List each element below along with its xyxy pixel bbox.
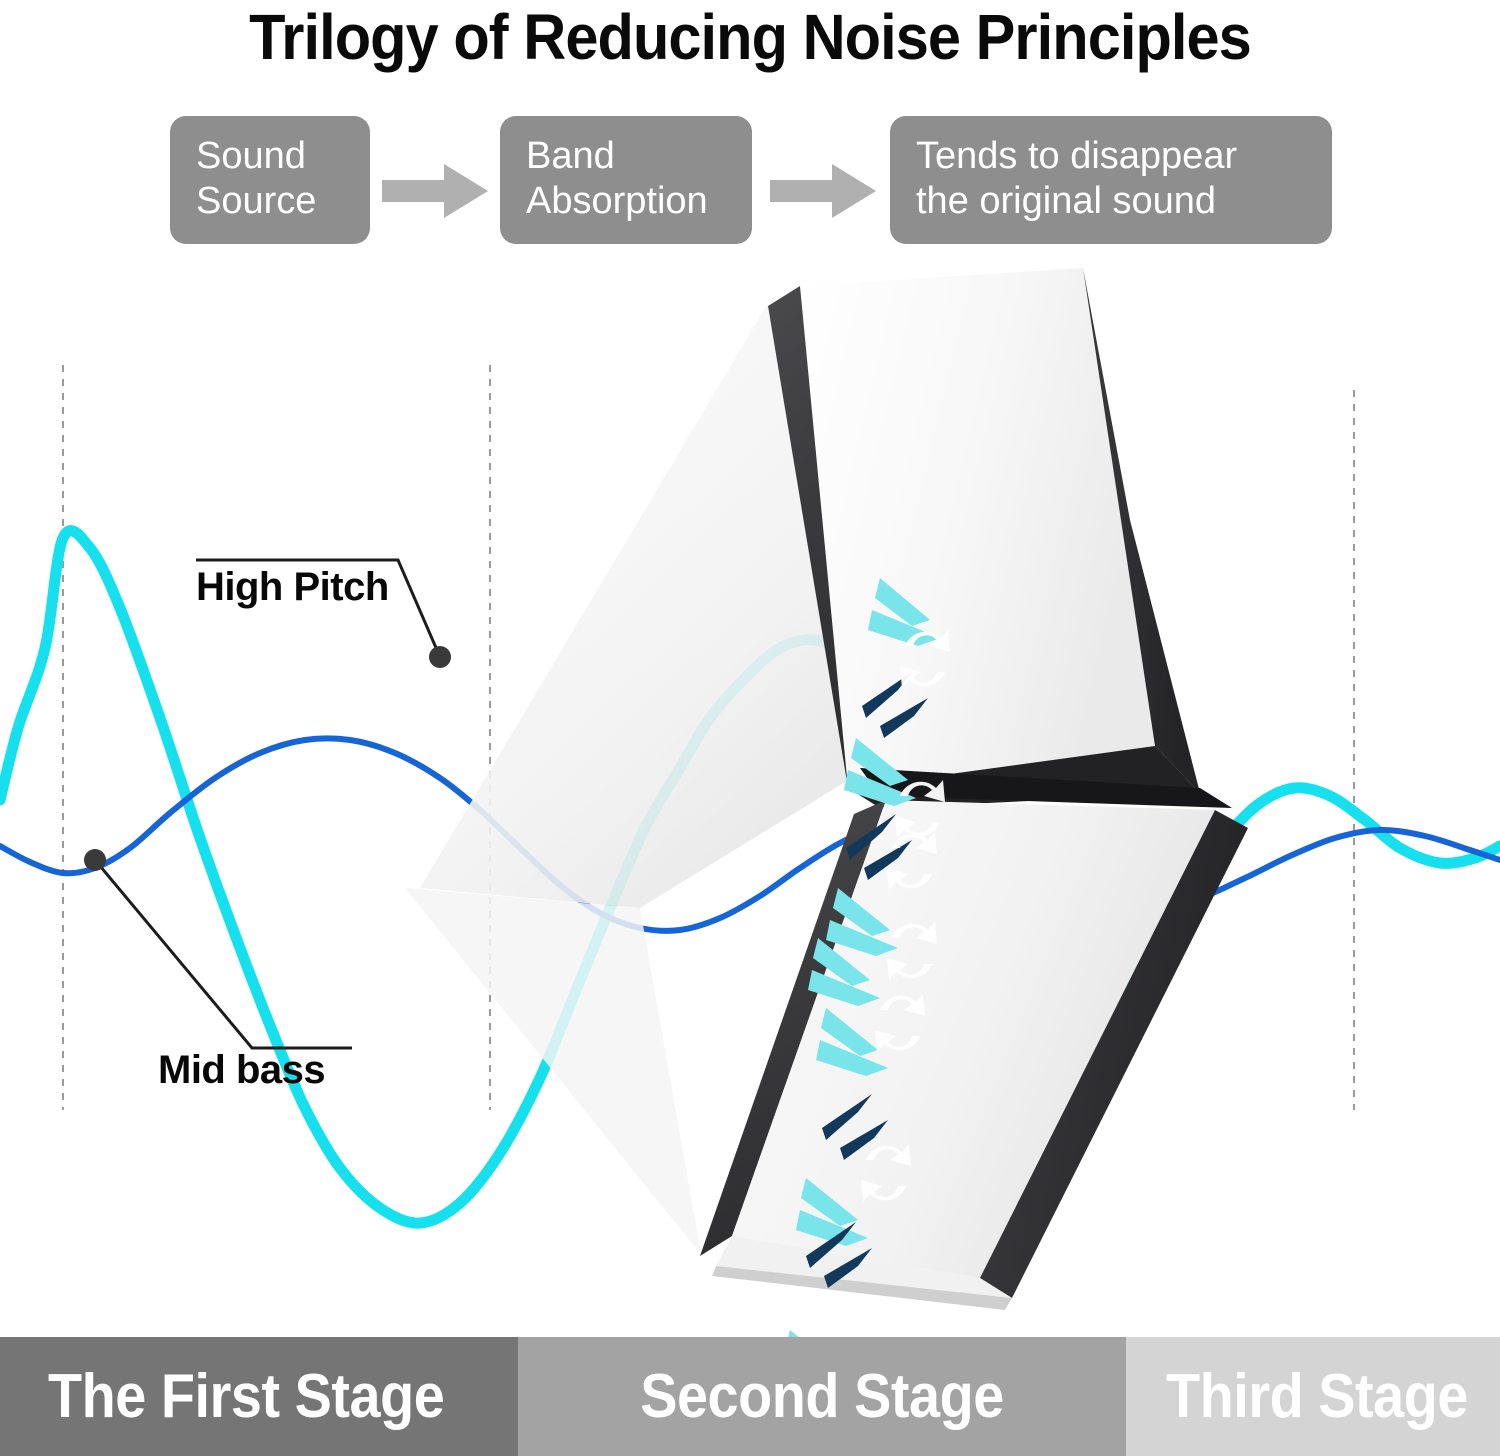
flow-step-tends-to-disappear: Tends to disappear the original sound: [890, 116, 1332, 244]
arrow-right-icon: [382, 164, 488, 218]
arrow-right-icon: [770, 164, 876, 218]
callout-group: [0, 248, 1500, 1337]
stage-band-third: Third Stage: [1126, 1337, 1500, 1456]
callout-dot-mid-bass: [84, 849, 106, 871]
stage-label-second: Second Stage: [640, 1361, 1004, 1432]
callout-label-mid-bass: Mid bass: [158, 1048, 325, 1093]
flow-step-band-absorption: Band Absorption: [500, 116, 752, 244]
stage-band-first: The First Stage: [0, 1337, 518, 1456]
stage-label-third: Third Stage: [1166, 1361, 1468, 1432]
stage-label-first: The First Stage: [48, 1361, 444, 1432]
callout-dot-high-pitch: [429, 646, 451, 668]
stage-bar: The First Stage Second Stage Third Stage: [0, 1337, 1500, 1456]
flow-step-sound-source: Sound Source: [170, 116, 370, 244]
stage-band-second: Second Stage: [518, 1337, 1126, 1456]
callout-mid-bass: [84, 849, 352, 1048]
page-title: Trilogy of Reducing Noise Principles: [53, 2, 1448, 72]
infographic-page: Trilogy of Reducing Noise Principles Sou…: [0, 0, 1500, 1456]
illustration-stage: High Pitch Mid bass: [0, 248, 1500, 1337]
process-flow: Sound Source Band Absorption Tends to di…: [0, 116, 1500, 248]
callout-label-high-pitch: High Pitch: [196, 565, 389, 610]
